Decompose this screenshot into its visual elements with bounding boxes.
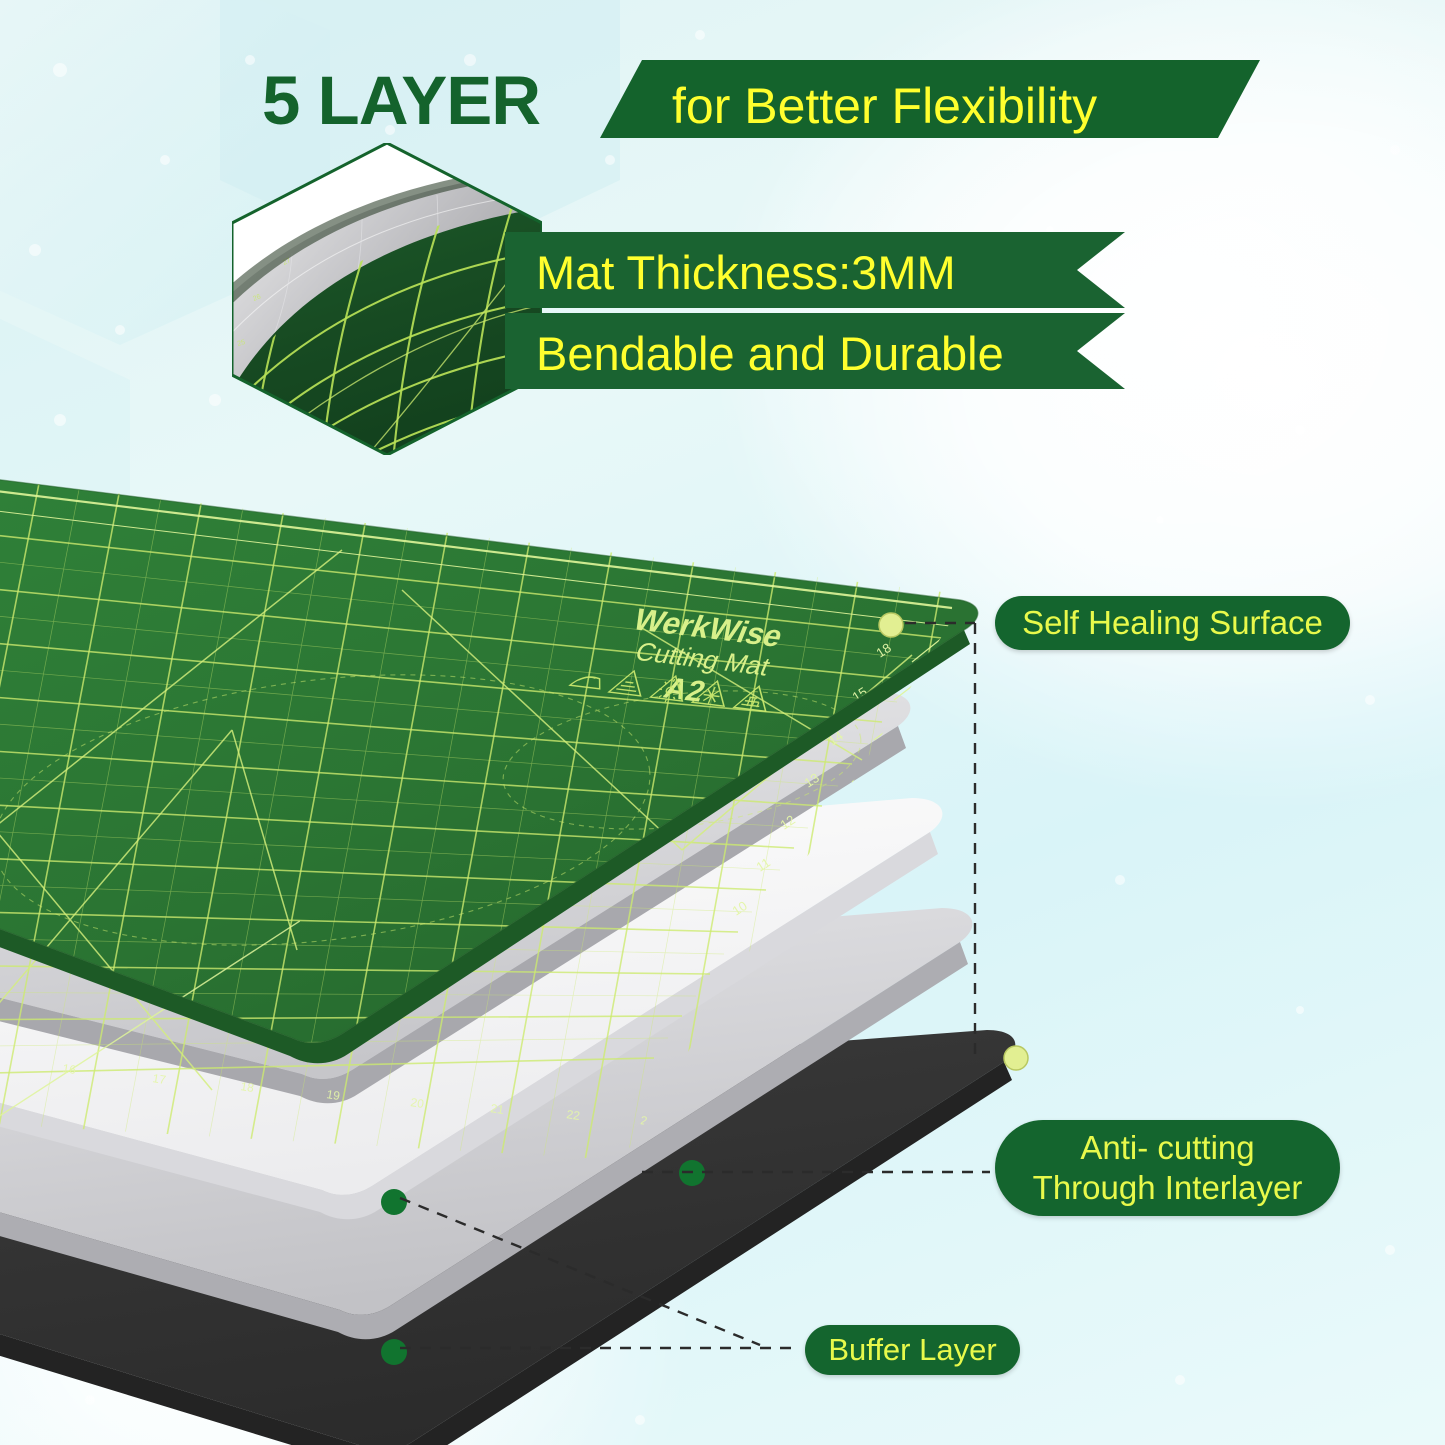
svg-text:19: 19 <box>326 1087 342 1103</box>
svg-text:18: 18 <box>240 1079 256 1095</box>
header-subtitle: for Better Flexibility <box>672 81 1097 131</box>
ribbon-thickness-label: Mat Thickness:3MM <box>536 249 956 296</box>
svg-text:17: 17 <box>152 1071 168 1087</box>
layer-stack-illustration: 18 15 14 13 12 11 10 16 17 18 19 20 21 2… <box>0 430 1092 1445</box>
svg-text:16: 16 <box>62 1061 78 1077</box>
anchor-dot-buffer-2 <box>381 1339 407 1365</box>
svg-text:21: 21 <box>490 1101 506 1117</box>
bendable-mat-photo: 27 26 25 <box>232 143 542 455</box>
callout-self-healing-surface[interactable]: Self Healing Surface <box>995 596 1350 650</box>
svg-text:20: 20 <box>410 1095 426 1111</box>
anchor-dot-self-healing <box>879 613 903 637</box>
page-title: 5 LAYER <box>262 66 540 135</box>
anchor-dot-anti-cutting <box>1004 1046 1028 1070</box>
callout-buffer-layer[interactable]: Buffer Layer <box>805 1325 1020 1375</box>
header-banner: 5 LAYER for Better Flexibility <box>0 28 1445 138</box>
anchor-dot-buffer-1 <box>381 1189 407 1215</box>
callout-anti-cutting-interlayer[interactable]: Anti- cutting Through Interlayer <box>995 1120 1340 1216</box>
infographic-canvas: 5 LAYER for Better Flexibility <box>0 0 1445 1445</box>
ribbon-durable-label: Bendable and Durable <box>536 330 1004 377</box>
svg-text:22: 22 <box>566 1107 582 1123</box>
anchor-dot-anti-cutting-2 <box>679 1160 705 1186</box>
